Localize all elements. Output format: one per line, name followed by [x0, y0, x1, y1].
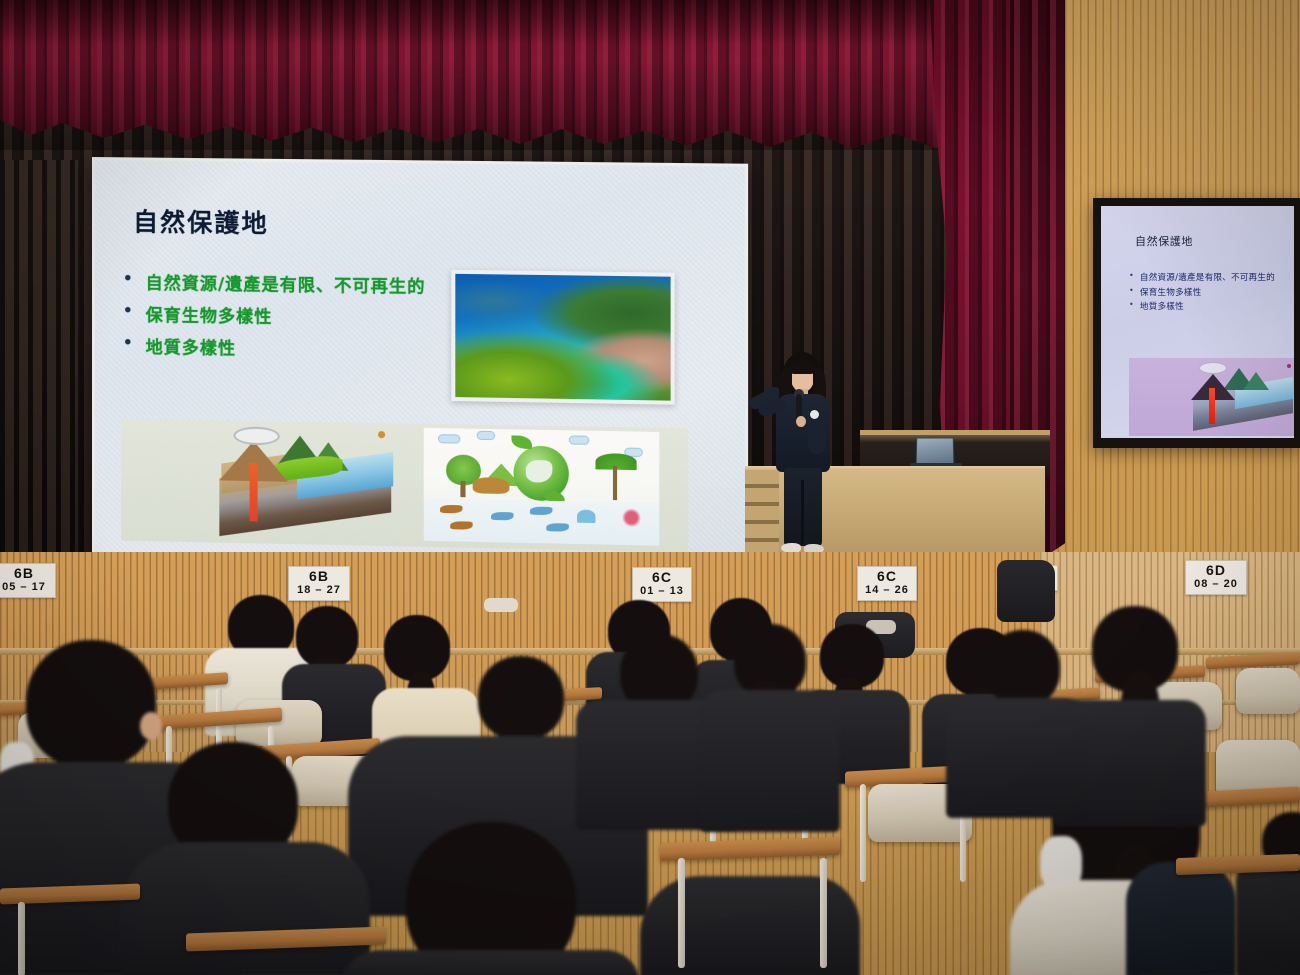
fish-icon	[491, 512, 513, 521]
bullet-marker-icon: •	[1129, 300, 1134, 309]
monitor-bullet-text: 地質多樣性	[1140, 300, 1184, 312]
monitor-bullet-list: • 自然資源/遺產是有限、不可再生的 • 保育生物多樣性 • 地質多樣性	[1129, 271, 1275, 315]
seat-sign-range: 05 – 17	[0, 581, 49, 594]
fish-icon	[450, 521, 472, 530]
seat-sign-range: 01 – 13	[639, 585, 685, 598]
monitor-bullet-text: 自然資源/遺產是有限、不可再生的	[1140, 271, 1275, 283]
monitor-geological-diagram	[1187, 362, 1294, 432]
desk-leg	[820, 858, 827, 968]
bullet-marker-icon: •	[1129, 271, 1134, 280]
assembly-hall-photo: 自然保護地 • 自然資源/遺產是有限、不可再生的 • 保育生物多樣性 • 地質多…	[0, 0, 1300, 975]
monitor-bullet-text: 保育生物多樣性	[1140, 286, 1202, 298]
student-torso	[640, 876, 860, 975]
slide-bullet-item: • 自然資源/遺產是有限、不可再生的	[123, 268, 426, 297]
bear-icon	[473, 477, 510, 494]
student-torso	[946, 698, 1086, 818]
seat-sign: 6C 01 – 13	[632, 567, 692, 602]
presenter-hand	[796, 416, 806, 427]
monitor-bullet-item: • 自然資源/遺產是有限、不可再生的	[1129, 271, 1275, 283]
monitor-bullet-item: • 保育生物多樣性	[1129, 286, 1275, 298]
student-head	[26, 640, 156, 768]
coral-icon	[620, 508, 643, 527]
desk-leg	[860, 784, 866, 882]
slide-bullet-text: 自然資源/遺產是有限、不可再生的	[146, 269, 426, 298]
projection-screen: 自然保護地 • 自然資源/遺產是有限、不可再生的 • 保育生物多樣性 • 地質多…	[92, 157, 748, 571]
laptop	[916, 438, 955, 465]
student-head	[986, 630, 1060, 706]
slide-lower-image-band	[121, 419, 688, 553]
seat-sign-room: 6D	[1192, 563, 1240, 578]
geological-block-diagram	[211, 426, 403, 540]
magma-chamber	[250, 463, 258, 521]
monitor-lower-image-band	[1129, 358, 1294, 436]
seat-sign-room: 6C	[639, 570, 685, 585]
student-head	[478, 656, 564, 740]
student-torso	[340, 950, 640, 975]
bullet-marker-icon: •	[123, 332, 134, 352]
seat-sign-room: 6B	[295, 569, 343, 584]
student-ear	[140, 712, 162, 740]
slide-bullet-item: • 地質多樣性	[123, 332, 426, 362]
seat-sign-room: 6C	[864, 569, 910, 584]
biodiversity-illustration	[424, 428, 660, 546]
student-torso	[1236, 860, 1300, 975]
monitor-slide-title: 自然保護地	[1135, 233, 1193, 249]
fish-icon	[530, 507, 553, 516]
eruption-plume-icon	[1199, 362, 1227, 374]
slide-title: 自然保護地	[133, 202, 269, 240]
student-collar	[1126, 862, 1236, 975]
presenter	[770, 352, 840, 557]
monitor-bullet-item: • 地質多樣性	[1129, 300, 1275, 312]
magma-chamber	[1209, 388, 1215, 424]
seat-sign: 6D 08 – 20	[1185, 560, 1247, 595]
fish-icon	[546, 523, 569, 532]
seat-sign-room: 6B	[0, 566, 49, 581]
jellyfish-icon	[577, 510, 595, 524]
palm-trunk	[613, 466, 617, 501]
monitor-screen: 自然保護地 • 自然資源/遺產是有限、不可再生的 • 保育生物多樣性 • 地質多…	[1101, 206, 1294, 438]
bullet-marker-icon: •	[1129, 286, 1134, 295]
student-chair	[1236, 668, 1300, 714]
leaf-icon	[511, 435, 531, 449]
stage-valance-curtain	[0, 0, 1040, 150]
cloud-icon	[438, 434, 460, 443]
projected-slide: 自然保護地 • 自然資源/遺產是有限、不可再生的 • 保育生物多樣性 • 地質多…	[95, 160, 745, 568]
seat-sign: 6C 14 – 26	[857, 566, 917, 601]
aerial-coastline-photo	[451, 270, 675, 405]
slide-bullet-text: 地質多樣性	[146, 333, 236, 359]
presenter-leg-gap	[801, 480, 804, 544]
student-torso	[120, 842, 370, 975]
sun-icon	[1287, 364, 1291, 368]
seat-sign: 6B 05 – 17	[0, 563, 56, 598]
slide-bullet-list: • 自然資源/遺產是有限、不可再生的 • 保育生物多樣性 • 地質多樣性	[123, 268, 426, 369]
bullet-marker-icon: •	[123, 268, 134, 288]
school-bag	[997, 560, 1055, 622]
sun-icon	[378, 431, 385, 438]
wall-monitor: 自然保護地 • 自然資源/遺產是有限、不可再生的 • 保育生物多樣性 • 地質多…	[1093, 198, 1300, 448]
fish-icon	[440, 505, 462, 514]
seat-sign-range: 18 – 27	[295, 584, 343, 597]
stage-left-curtain-panel	[0, 160, 78, 560]
tree-trunk	[460, 481, 465, 497]
slide-bullet-item: • 保育生物多樣性	[123, 300, 426, 330]
desk-leg	[678, 858, 685, 968]
seat-sign: 6B 18 – 27	[288, 566, 350, 601]
desk-leg	[18, 902, 25, 975]
presenter-fringe	[789, 360, 816, 374]
student-torso	[700, 690, 840, 832]
slide-bullet-text: 保育生物多樣性	[146, 301, 273, 328]
seat-sign-range: 14 – 26	[864, 584, 910, 597]
bullet-marker-icon: •	[123, 300, 134, 320]
item-on-ledge	[484, 598, 518, 612]
cloud-icon	[477, 431, 495, 440]
cloud-icon	[569, 435, 590, 444]
presenter-logo-badge	[810, 410, 819, 419]
mountain-shape	[1243, 372, 1269, 390]
seat-sign-range: 08 – 20	[1192, 578, 1240, 591]
